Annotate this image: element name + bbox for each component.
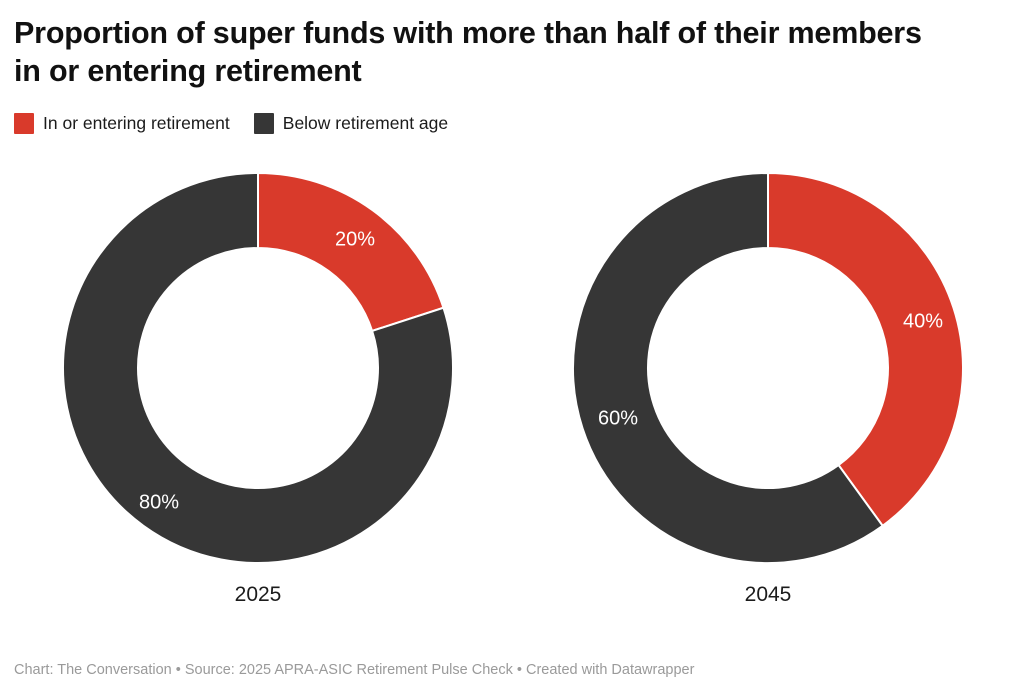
legend-label-below-retirement-age: Below retirement age [283, 113, 448, 134]
donut-slice-label-2045-40: 40% [903, 310, 943, 332]
legend-swatch-in-or-entering-retirement [14, 113, 34, 134]
chart-container: Proportion of super funds with more than… [0, 0, 1024, 693]
donut-slice-label-2045-60: 60% [598, 407, 638, 429]
legend-swatch-below-retirement-age [254, 113, 274, 134]
legend-item-in-or-entering-retirement[interactable]: In or entering retirement [14, 113, 230, 134]
donut-charts-svg: 20%80% 40%60% [0, 160, 1024, 580]
donut-slice-2025-20[interactable] [258, 173, 443, 331]
donut-group-label-2025: 2025 [235, 583, 282, 607]
donut-chart-group: 20%80% 40%60% [0, 160, 1024, 580]
legend-label-in-or-entering-retirement: In or entering retirement [43, 113, 230, 134]
donut-slice-label-2025-20: 20% [335, 228, 375, 250]
donut-slice-2045-40[interactable] [768, 173, 963, 526]
donut-group-label-2045: 2045 [745, 583, 792, 607]
chart-legend: In or entering retirement Below retireme… [14, 112, 448, 134]
donut-slice-label-2025-80: 80% [139, 491, 179, 513]
donut-chart-2025: 20%80% [63, 173, 453, 563]
donut-chart-2045: 40%60% [573, 173, 963, 563]
chart-footer-note: Chart: The Conversation • Source: 2025 A… [14, 660, 694, 680]
page-title: Proportion of super funds with more than… [14, 14, 944, 90]
legend-item-below-retirement-age[interactable]: Below retirement age [254, 113, 448, 134]
